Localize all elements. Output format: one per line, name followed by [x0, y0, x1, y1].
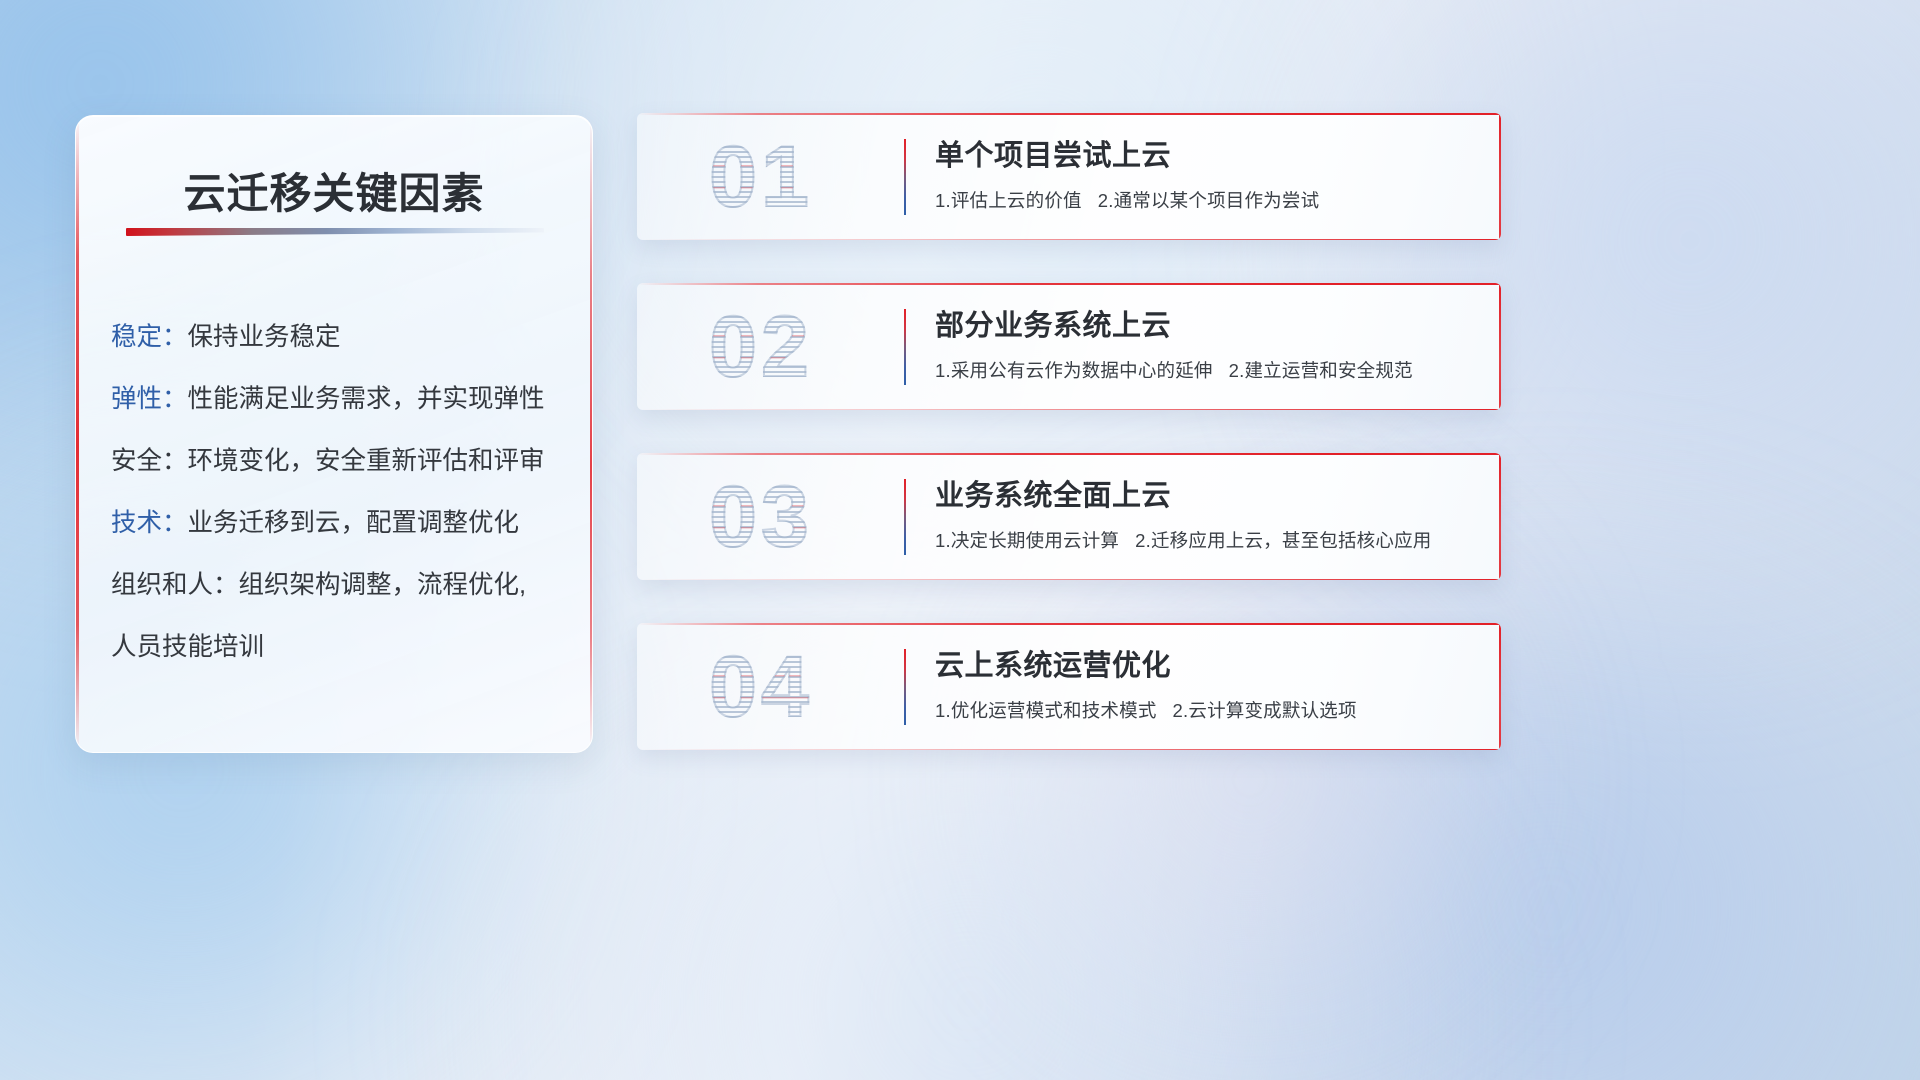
factor-label: 安全： — [111, 447, 188, 475]
key-factors-list: 稳定：保持业务稳定弹性：性能满足业务需求，并实现弹性安全：环境变化，安全重新评估… — [111, 306, 568, 678]
card-title: 云上系统运营优化 — [935, 645, 1479, 687]
key-factors-panel: 云迁移关键因素 稳定：保持业务稳定弹性：性能满足业务需求，并实现弹性安全：环境变… — [75, 115, 593, 753]
factor-value: 环境变化，安全重新评估和评审 — [188, 447, 545, 475]
card-description: 1.优化运营模式和技术模式 2.云计算变成默认选项 — [935, 697, 1479, 723]
factor-value: 性能满足业务需求，并实现弹性 — [188, 385, 545, 413]
stage-card[interactable]: 0303业务系统全面上云1.决定长期使用云计算 2.迁移应用上云，甚至包括核心应… — [637, 453, 1501, 580]
card-body: 部分业务系统上云1.采用公有云作为数据中心的延伸 2.建立运营和安全规范 — [935, 305, 1479, 383]
page-title: 云迁移关键因素 — [76, 160, 592, 221]
stage-card[interactable]: 0404云上系统运营优化1.优化运营模式和技术模式 2.云计算变成默认选项 — [637, 623, 1501, 750]
factor-row: 弹性：性能满足业务需求，并实现弹性 — [111, 368, 568, 430]
stage-card[interactable]: 0202部分业务系统上云1.采用公有云作为数据中心的延伸 2.建立运营和安全规范 — [637, 283, 1501, 410]
card-description: 1.评估上云的价值 2.通常以某个项目作为尝试 — [935, 187, 1479, 213]
card-divider — [904, 479, 906, 555]
card-title: 业务系统全面上云 — [935, 475, 1479, 517]
title-underline-rule — [126, 228, 544, 236]
stage-number: 04 — [661, 631, 861, 743]
card-body: 单个项目尝试上云1.评估上云的价值 2.通常以某个项目作为尝试 — [935, 135, 1479, 213]
factor-row: 安全：环境变化，安全重新评估和评审 — [111, 430, 568, 492]
factor-label: 稳定： — [111, 323, 188, 351]
card-body: 云上系统运营优化1.优化运营模式和技术模式 2.云计算变成默认选项 — [935, 645, 1479, 723]
card-divider — [904, 649, 906, 725]
card-title: 单个项目尝试上云 — [935, 135, 1479, 177]
factor-value: 组织架构调整，流程优化, — [239, 571, 527, 599]
stage-number: 01 — [661, 121, 861, 233]
factor-row: 人员技能培训 — [111, 616, 568, 678]
factor-row: 组织和人：组织架构调整，流程优化, — [111, 554, 568, 616]
card-right-border — [1499, 113, 1501, 240]
stage-number: 02 — [661, 291, 861, 403]
card-divider — [904, 309, 906, 385]
factor-label: 技术： — [111, 509, 188, 537]
factor-row: 技术：业务迁移到云，配置调整优化 — [111, 492, 568, 554]
factor-value: 业务迁移到云，配置调整优化 — [188, 509, 520, 537]
stage-cards-list: 0101单个项目尝试上云1.评估上云的价值 2.通常以某个项目作为尝试0202部… — [637, 113, 1501, 793]
card-right-border — [1499, 623, 1501, 750]
card-right-border — [1499, 283, 1501, 410]
card-description: 1.决定长期使用云计算 2.迁移应用上云，甚至包括核心应用 — [935, 527, 1479, 553]
stage-card[interactable]: 0101单个项目尝试上云1.评估上云的价值 2.通常以某个项目作为尝试 — [637, 113, 1501, 240]
card-body: 业务系统全面上云1.决定长期使用云计算 2.迁移应用上云，甚至包括核心应用 — [935, 475, 1479, 553]
factor-value: 人员技能培训 — [111, 633, 264, 661]
factor-value: 保持业务稳定 — [188, 323, 341, 351]
factor-row: 稳定：保持业务稳定 — [111, 306, 568, 368]
stage-number: 03 — [661, 461, 861, 573]
card-divider — [904, 139, 906, 215]
card-right-border — [1499, 453, 1501, 580]
card-title: 部分业务系统上云 — [935, 305, 1479, 347]
factor-label: 组织和人： — [111, 571, 239, 599]
card-description: 1.采用公有云作为数据中心的延伸 2.建立运营和安全规范 — [935, 357, 1479, 383]
factor-label: 弹性： — [111, 385, 188, 413]
